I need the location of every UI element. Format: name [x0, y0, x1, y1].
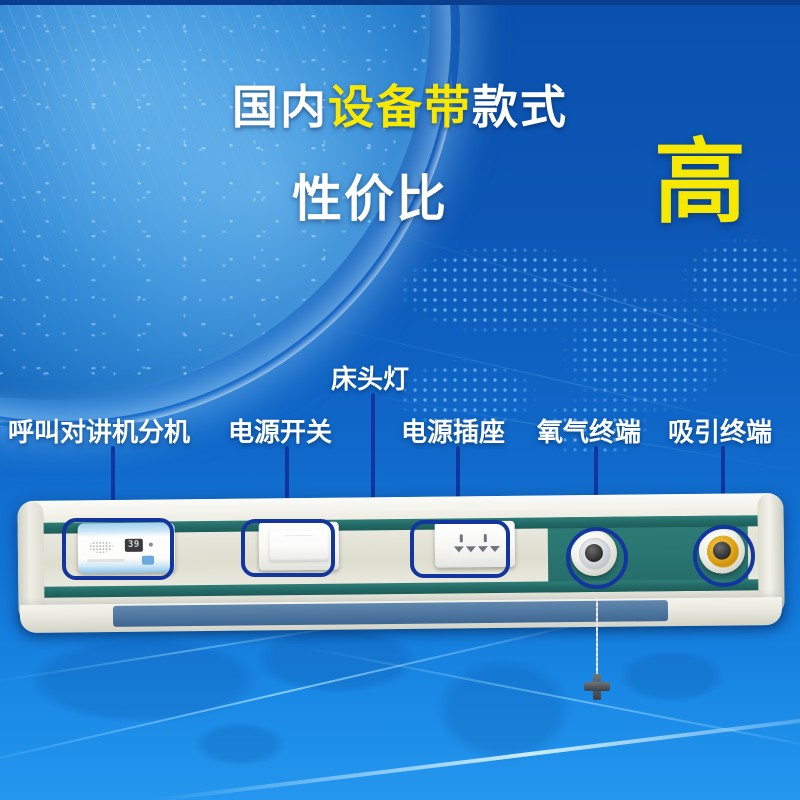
highlight-box-intercom	[62, 518, 174, 580]
callout-label-power-socket: 电源插座	[401, 412, 505, 449]
callout-label-oxygen-terminal: 氧气终端	[537, 412, 641, 449]
headline-word-domestic: 国内	[232, 80, 328, 134]
highlight-ring-oxygen	[566, 527, 628, 589]
callout-label-bed-lamp: 床头灯	[331, 359, 409, 396]
pull-cord[interactable]	[596, 598, 598, 678]
headline-cost-performance: 性价比	[292, 159, 448, 231]
top-edge-bar	[0, 0, 800, 5]
highlight-box-power-switch	[241, 519, 335, 577]
panel-stripe-bottom	[18, 579, 784, 598]
panel-top-highlight	[17, 493, 783, 517]
headline-word-equipment-belt: 设备带	[328, 80, 472, 134]
callout-label-suction-terminal: 吸引终端	[668, 412, 772, 449]
headline-line-1: 国内设备带款式	[0, 84, 800, 130]
highlight-ring-suction	[693, 525, 755, 587]
callout-label-intercom: 呼叫对讲机分机	[8, 412, 190, 449]
callout-label-power-switch: 电源开关	[228, 412, 332, 449]
cord-cross-hook[interactable]	[584, 674, 610, 700]
headline-block: 国内设备带款式 性价比 高	[0, 84, 800, 130]
highlight-box-power-socket	[410, 520, 510, 578]
headline-word-style: 款式	[472, 80, 568, 134]
headline-high: 高	[654, 137, 746, 229]
promo-image: 国内设备带款式 性价比 高 呼叫对讲机分机 电源开关 床头灯 电源插座 氧气终端…	[0, 0, 800, 800]
